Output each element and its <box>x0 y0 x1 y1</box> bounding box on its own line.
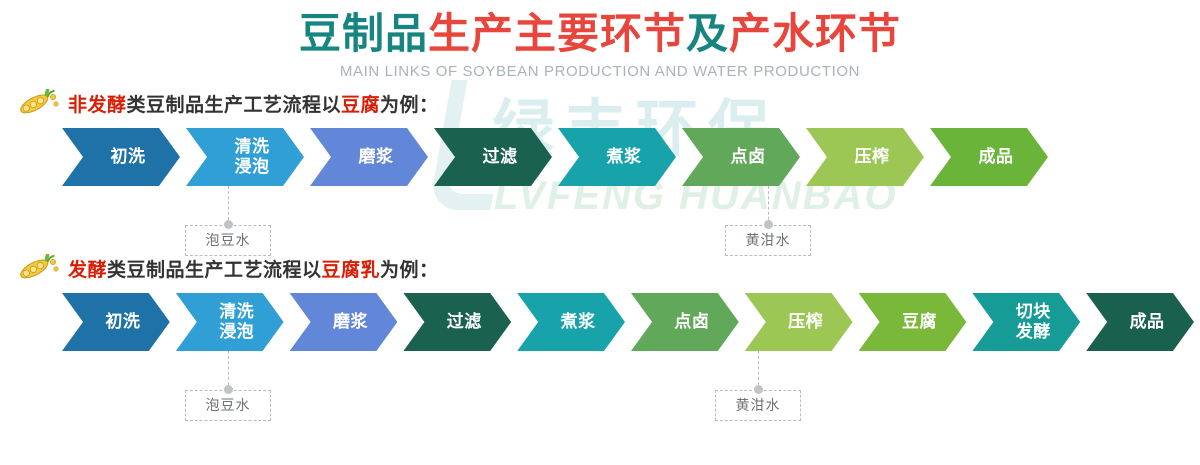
process-step: 成品 <box>930 128 1048 186</box>
process-step: 煮浆 <box>517 293 625 351</box>
process-step: 清洗 浸泡 <box>186 128 304 186</box>
process-step: 压榨 <box>745 293 853 351</box>
process-flow-row-1: 初洗清洗 浸泡磨浆过滤煮浆点卤压榨成品 <box>62 128 1200 186</box>
process-step: 点卤 <box>631 293 739 351</box>
process-step: 切块 发酵 <box>972 293 1080 351</box>
title-part-2: 生产主要环节 <box>428 9 686 58</box>
heading-highlight-2: 豆腐 <box>341 94 380 116</box>
section-heading-text-2: 发酵类豆制品生产工艺流程以豆腐乳为例： <box>68 255 439 282</box>
process-step-label: 过滤 <box>433 312 482 332</box>
process-step-label: 豆腐 <box>888 312 937 332</box>
callout-label: 黄泔水 <box>725 225 811 256</box>
section-heading-1: 非发酵类豆制品生产工艺流程以豆腐为例： <box>16 89 1200 117</box>
process-step-label: 点卤 <box>660 312 709 332</box>
process-step-label: 点卤 <box>717 147 766 167</box>
process-step: 点卤 <box>682 128 800 186</box>
title-part-3: 及 <box>686 9 729 58</box>
process-step: 过滤 <box>434 128 552 186</box>
process-step: 初洗 <box>62 128 180 186</box>
process-step-label: 磨浆 <box>345 147 394 167</box>
water-output-callout: 黄泔水 <box>715 351 801 421</box>
section-heading-2: 发酵类豆制品生产工艺流程以豆腐乳为例： <box>16 254 1200 282</box>
callout-connector-dot <box>224 220 233 229</box>
page-header: 豆制品生产主要环节及产水环节 MAIN LINKS OF SOYBEAN PRO… <box>0 0 1200 80</box>
process-step-label: 压榨 <box>774 312 823 332</box>
heading-highlight: 发酵 <box>68 259 107 281</box>
page-title: 豆制品生产主要环节及产水环节 <box>0 8 1200 60</box>
process-step-label: 切块 发酵 <box>1002 302 1051 342</box>
heading-rest: 类豆制品生产工艺流程以 <box>127 94 342 116</box>
section-heading-text-1: 非发酵类豆制品生产工艺流程以豆腐为例： <box>68 90 439 117</box>
process-step: 成品 <box>1086 293 1194 351</box>
process-step-label: 初洗 <box>97 147 146 167</box>
process-step-label: 煮浆 <box>593 147 642 167</box>
heading-highlight: 非发酵 <box>68 94 127 116</box>
process-step-label: 清洗 浸泡 <box>205 302 254 342</box>
callout-label: 泡豆水 <box>185 390 271 421</box>
heading-tail: 为例： <box>380 94 439 116</box>
heading-rest: 类豆制品生产工艺流程以 <box>107 259 322 281</box>
process-step: 豆腐 <box>859 293 967 351</box>
process-step-label: 初洗 <box>91 312 140 332</box>
title-part-4: 产水环节 <box>729 9 901 58</box>
process-step: 磨浆 <box>310 128 428 186</box>
process-step-label: 清洗 浸泡 <box>221 137 270 177</box>
process-step-label: 成品 <box>1116 312 1165 332</box>
water-output-callout: 黄泔水 <box>725 186 811 256</box>
process-step: 煮浆 <box>558 128 676 186</box>
callout-label: 泡豆水 <box>185 225 271 256</box>
process-flow-row-2: 初洗清洗 浸泡磨浆过滤煮浆点卤压榨豆腐切块 发酵成品 <box>62 293 1200 351</box>
process-step-label: 过滤 <box>469 147 518 167</box>
soybean-pod-icon <box>16 89 60 117</box>
callout-connector-dot <box>754 385 763 394</box>
callout-group-2: 泡豆水黄泔水 <box>0 351 1200 423</box>
process-step: 磨浆 <box>290 293 398 351</box>
process-step: 初洗 <box>62 293 170 351</box>
process-step-label: 煮浆 <box>547 312 596 332</box>
callout-connector-dot <box>764 220 773 229</box>
process-step-label: 磨浆 <box>319 312 368 332</box>
process-step: 过滤 <box>403 293 511 351</box>
water-output-callout: 泡豆水 <box>185 351 271 421</box>
process-step-label: 压榨 <box>841 147 890 167</box>
title-part-1: 豆制品 <box>299 9 428 58</box>
page-subtitle: MAIN LINKS OF SOYBEAN PRODUCTION AND WAT… <box>0 63 1200 80</box>
callout-group-1: 泡豆水黄泔水 <box>0 186 1200 258</box>
heading-tail: 为例： <box>380 259 439 281</box>
soybean-pod-icon <box>16 254 60 282</box>
process-step-label: 成品 <box>965 147 1014 167</box>
callout-connector-dot <box>224 385 233 394</box>
callout-label: 黄泔水 <box>715 390 801 421</box>
water-output-callout: 泡豆水 <box>185 186 271 256</box>
process-step: 清洗 浸泡 <box>176 293 284 351</box>
heading-highlight-2: 豆腐乳 <box>322 259 381 281</box>
process-step: 压榨 <box>806 128 924 186</box>
